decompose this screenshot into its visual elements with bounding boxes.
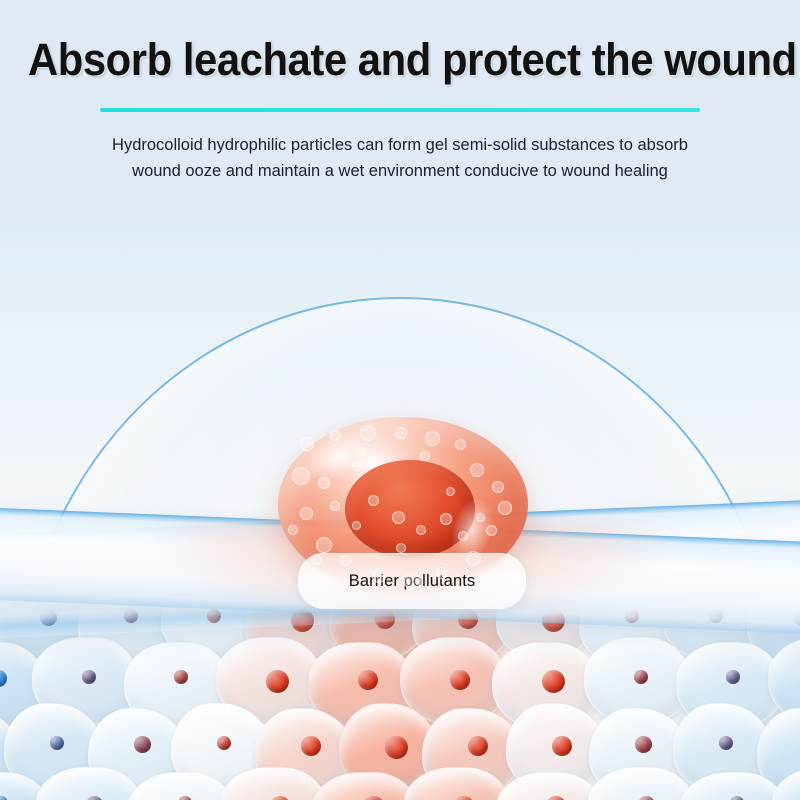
gel-bubble [292,467,310,485]
cell-nucleus [358,670,378,690]
gel-bubble [352,461,362,471]
gel-bubble [420,451,430,461]
gel-bubble [356,447,365,456]
title-divider [100,108,700,112]
page-subtitle: Hydrocolloid hydrophilic particles can f… [110,132,690,184]
gel-bubble [458,531,468,541]
gel-bubble [352,521,361,530]
wound-dressing-illustration: Barrier pollutants Establish a wet envir… [0,225,800,800]
gel-bubble [360,425,376,441]
gel-bubble [436,567,448,579]
gel-bubble [404,573,421,590]
gel-bubble [288,525,298,535]
cell-nucleus [450,670,470,690]
gel-bubble [455,439,466,450]
cell-nucleus [82,670,96,684]
cell-nucleus [726,670,740,684]
gel-bubble [486,525,497,536]
gel-bubble [330,501,340,511]
gel-bubble [466,551,481,566]
gel-bubble [396,543,406,553]
cell-nucleus [542,670,565,693]
cell-nucleus [634,670,648,684]
gel-bubble [446,487,455,496]
gel-bubble [372,569,386,583]
gel-bubble [470,463,484,477]
gel-bubble [498,501,512,515]
gel-bubble [300,437,314,451]
gel-bubble [395,427,407,439]
cell-nucleus [134,736,151,753]
page-title: Absorb leachate and protect the wound [28,34,772,86]
gel-bubble [330,430,341,441]
gel-bubble [300,507,313,520]
cell-nucleus [385,736,408,759]
gel-bubble [425,431,440,446]
gel-bubble [312,555,322,565]
cell-nucleus [174,670,188,684]
gel-bubble [440,513,452,525]
infographic-page: Absorb leachate and protect the wound Hy… [0,0,800,800]
gel-bubble [318,477,330,489]
gel-bubble [492,481,504,493]
gel-bubble [476,513,485,522]
gel-bubble [316,537,332,553]
gel-bubble [340,555,351,566]
gel-bubble [392,511,405,524]
gel-bubble [416,525,426,535]
gel-bubble [368,495,379,506]
cell-nucleus [266,670,289,693]
